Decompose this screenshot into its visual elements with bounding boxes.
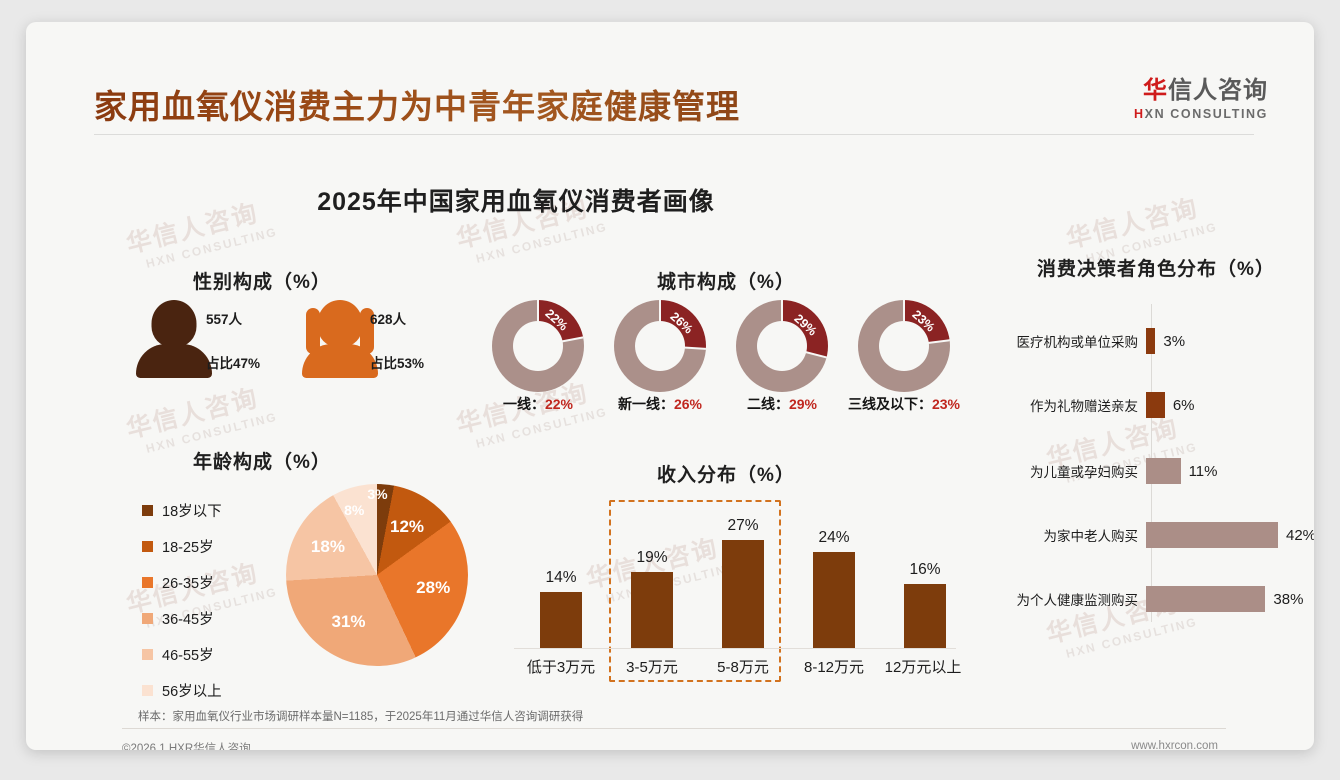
watermark-cn: 华信人咨询: [1062, 185, 1215, 256]
header-divider: [94, 134, 1254, 135]
role-row: 为家中老人购买 42%: [986, 522, 1314, 548]
role-label: 为儿童或孕妇购买: [986, 461, 1146, 481]
income-bar-group: 14%: [528, 569, 594, 648]
role-bar: [1146, 392, 1165, 418]
donut-label-value: 26%: [674, 396, 702, 412]
donut-label: 一线：22%: [503, 394, 573, 414]
donut-label: 新一线：26%: [618, 394, 702, 414]
page-title: 家用血氧仪消费主力为中青年家庭健康管理: [94, 80, 740, 128]
role-row: 为个人健康监测购买 38%: [986, 586, 1303, 612]
legend-swatch: [142, 613, 153, 624]
donut-chart-tier3: 23% 三线及以下：23%: [858, 300, 950, 392]
income-bar: [904, 584, 946, 648]
watermark-en: HXN CONSULTING: [474, 220, 608, 266]
income-bar-group: 19%: [619, 549, 685, 648]
income-bar-value: 24%: [801, 529, 867, 547]
donut-label-text: 一线：: [503, 396, 545, 412]
roles-section-title: 消费决策者角色分布（%）: [986, 254, 1314, 281]
pie-label-2: 28%: [416, 578, 450, 598]
role-bar: [1146, 522, 1278, 548]
income-category-label: 3-5万元: [605, 656, 699, 677]
male-count: 557人: [206, 308, 260, 328]
donut-label-text: 二线：: [747, 396, 789, 412]
income-section-title: 收入分布（%）: [516, 460, 936, 487]
role-value: 3%: [1163, 333, 1185, 350]
legend-swatch: [142, 505, 153, 516]
income-bar-value: 19%: [619, 549, 685, 567]
age-pie-chart: [286, 484, 468, 666]
female-count: 628人: [370, 308, 424, 328]
income-category-label: 8-12万元: [787, 656, 881, 677]
role-value: 11%: [1189, 463, 1218, 480]
legend-label: 18岁以下: [162, 500, 222, 521]
income-bar-value: 16%: [892, 561, 958, 579]
copyright-text: ©2026.1 HXR华信人咨询: [122, 740, 251, 750]
income-axis-line: [514, 648, 956, 649]
infographic-page: 华信人咨询 HXN CONSULTING 华信人咨询 HXN CONSULTIN…: [26, 22, 1314, 750]
role-label: 作为礼物赠送亲友: [986, 395, 1146, 415]
male-stats: 557人 占比47%: [206, 308, 260, 372]
city-section-title: 城市构成（%）: [516, 267, 936, 294]
watermark-en: HXN CONSULTING: [1064, 615, 1198, 661]
income-bar: [722, 540, 764, 648]
chart-subtitle: 2025年中国家用血氧仪消费者画像: [26, 182, 1006, 218]
legend-item: 18-25岁: [142, 536, 222, 557]
donut-ring: 22%: [492, 300, 584, 392]
income-category-label: 5-8万元: [696, 656, 790, 677]
income-bar-value: 27%: [710, 517, 776, 535]
role-value: 38%: [1273, 591, 1303, 608]
income-bar: [540, 592, 582, 648]
legend-swatch: [142, 541, 153, 552]
logo-en-rest: XN CONSULTING: [1145, 107, 1268, 121]
income-bar: [631, 572, 673, 648]
legend-item: 36-45岁: [142, 608, 222, 629]
donut-ring: 29%: [736, 300, 828, 392]
logo-english-text: HXN CONSULTING: [1134, 107, 1268, 121]
income-category-label: 12万元以上: [876, 656, 970, 677]
donut-ring: 23%: [858, 300, 950, 392]
pie-label-1: 12%: [390, 517, 424, 537]
legend-label: 18-25岁: [162, 536, 214, 557]
pie-label-5: 8%: [344, 502, 364, 518]
role-row: 为儿童或孕妇购买 11%: [986, 458, 1217, 484]
header: 家用血氧仪消费主力为中青年家庭健康管理 华信人咨询 HXN CONSULTING: [26, 22, 1314, 122]
income-category-label: 低于3万元: [514, 656, 608, 677]
income-bar: [813, 552, 855, 648]
watermark-en: HXN CONSULTING: [144, 225, 278, 271]
age-section-title: 年龄构成（%）: [112, 447, 412, 474]
role-label: 为个人健康监测购买: [986, 589, 1146, 609]
website-link[interactable]: www.hxrcon.com: [1131, 740, 1218, 750]
legend-label: 36-45岁: [162, 608, 214, 629]
donut-ring: 26%: [614, 300, 706, 392]
role-label: 为家中老人购买: [986, 525, 1146, 545]
role-bar: [1146, 586, 1265, 612]
sample-note: 样本：家用血氧仪行业市场调研样本量N=1185，于2025年11月通过华信人咨询…: [138, 708, 583, 724]
income-bar-chart: 14% 19% 27% 24% 16%: [514, 498, 944, 648]
legend-item: 26-35岁: [142, 572, 222, 593]
legend-label: 26-35岁: [162, 572, 214, 593]
donut-label: 三线及以下：23%: [848, 394, 960, 414]
legend-swatch: [142, 577, 153, 588]
logo-h-char: H: [1134, 107, 1145, 121]
donut-label-value: 29%: [789, 396, 817, 412]
logo-cn-rest: 信人咨询: [1168, 77, 1268, 104]
legend-swatch: [142, 649, 153, 660]
income-bar-group: 24%: [801, 529, 867, 648]
female-share: 占比53%: [370, 352, 424, 372]
pie-label-4: 18%: [311, 537, 345, 557]
donut-chart-tier2: 29% 二线：29%: [736, 300, 828, 392]
logo-hua-char: 华: [1143, 77, 1168, 104]
pie-label-0: 3%: [367, 486, 387, 502]
role-value: 6%: [1173, 397, 1195, 414]
role-row: 医疗机构或单位采购 3%: [986, 328, 1185, 354]
gender-section-title: 性别构成（%）: [112, 267, 412, 294]
role-bar: [1146, 328, 1155, 354]
income-bar-group: 16%: [892, 561, 958, 648]
pie-label-3: 31%: [331, 612, 365, 632]
income-bar-value: 14%: [528, 569, 594, 587]
female-stats: 628人 占比53%: [370, 308, 424, 372]
legend-item: 46-55岁: [142, 644, 222, 665]
logo-chinese-text: 华信人咨询: [1134, 70, 1268, 105]
legend-item: 18岁以下: [142, 500, 222, 521]
donut-label-value: 22%: [545, 396, 573, 412]
brand-logo: 华信人咨询 HXN CONSULTING: [1134, 70, 1268, 121]
role-value: 42%: [1286, 527, 1314, 544]
footer-divider: [122, 728, 1226, 729]
donut-label-value: 23%: [932, 396, 960, 412]
age-legend: 18岁以下 18-25岁 26-35岁 36-45岁 46-55岁 56岁以上: [142, 500, 222, 716]
donut-label-text: 三线及以下：: [848, 396, 932, 412]
male-silhouette-icon: [132, 300, 216, 378]
watermark-cn: 华信人咨询: [122, 375, 275, 446]
donut-label-text: 新一线：: [618, 396, 674, 412]
role-label: 医疗机构或单位采购: [986, 331, 1146, 351]
donut-chart-tier1: 22% 一线：22%: [492, 300, 584, 392]
legend-swatch: [142, 685, 153, 696]
legend-label: 46-55岁: [162, 644, 214, 665]
income-bar-group: 27%: [710, 517, 776, 648]
donut-chart-newtier1: 26% 新一线：26%: [614, 300, 706, 392]
role-bar: [1146, 458, 1181, 484]
role-row: 作为礼物赠送亲友 6%: [986, 392, 1195, 418]
legend-label: 56岁以上: [162, 680, 222, 701]
male-share: 占比47%: [206, 352, 260, 372]
donut-label: 二线：29%: [747, 394, 817, 414]
legend-item: 56岁以上: [142, 680, 222, 701]
